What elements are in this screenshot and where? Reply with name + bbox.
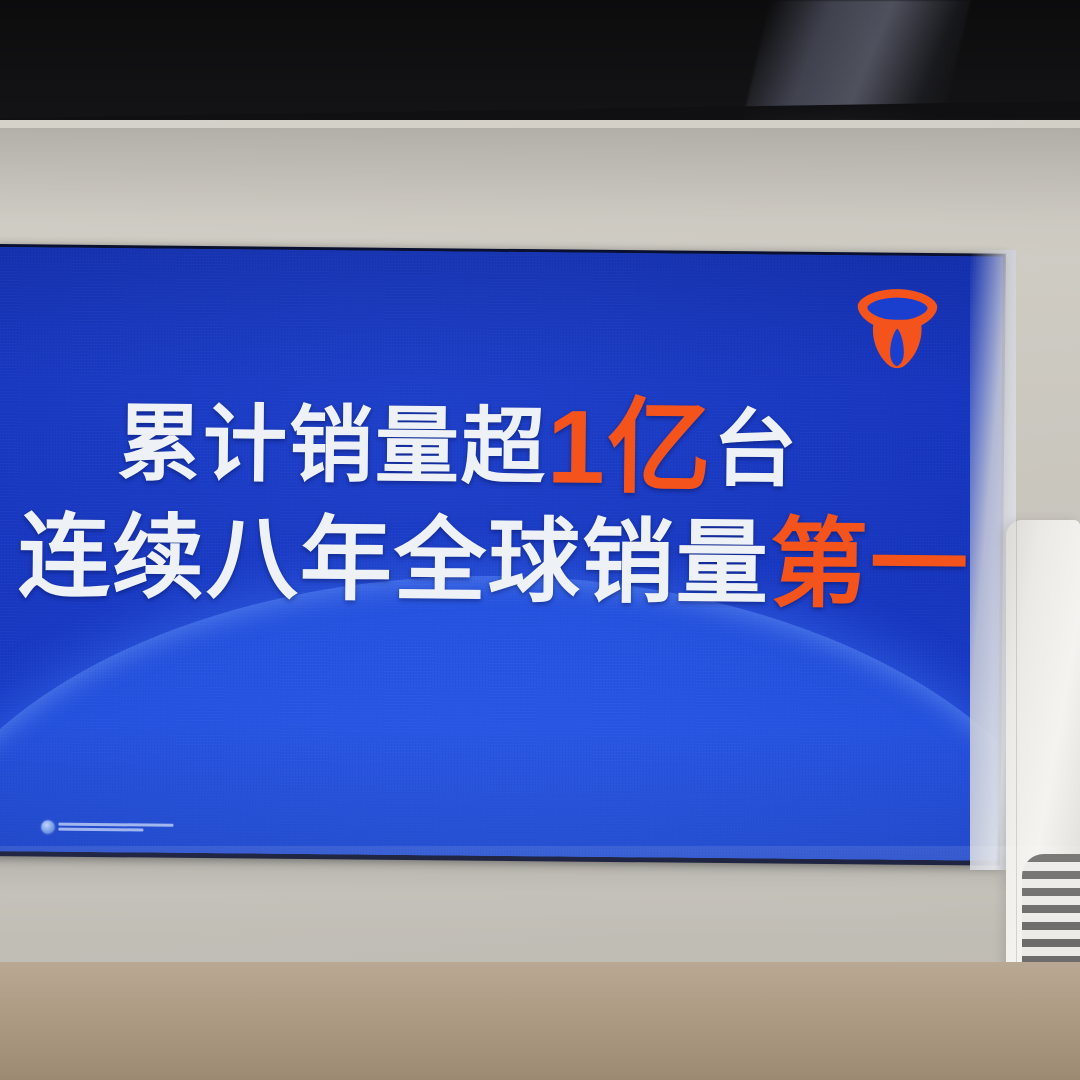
showroom-photo: 累计销量超1亿台 连续八年全球销量第一 [0,0,1080,1080]
wall-top-shadow [0,128,1080,258]
headline-line2-pre: 连续八年全球销量 [18,506,771,615]
headline-line2-highlight: 第一 [769,509,970,621]
headline-line1-highlight: 1亿 [547,389,714,507]
showroom-floor [0,962,1080,1080]
headline-line1-post: 台 [712,402,799,497]
seal-emblem-icon [41,820,54,833]
headline-block: 累计销量超1亿台 连续八年全球销量第一 [0,387,1002,619]
screen-surface[interactable]: 累计销量超1亿台 连续八年全球销量第一 [0,247,1003,861]
headline-line-2: 连续八年全球销量第一 [17,505,1000,618]
seal-text-lines [58,822,173,833]
led-video-wall[interactable]: 累计销量超1亿台 连续八年全球销量第一 [0,244,1006,866]
certification-seal [41,818,173,836]
headline-line-1: 累计销量超1亿台 [117,388,1002,507]
headline-line1-pre: 累计销量超 [117,396,548,494]
scooter-display-row [0,846,1080,1080]
yadea-logo-icon [854,285,941,370]
